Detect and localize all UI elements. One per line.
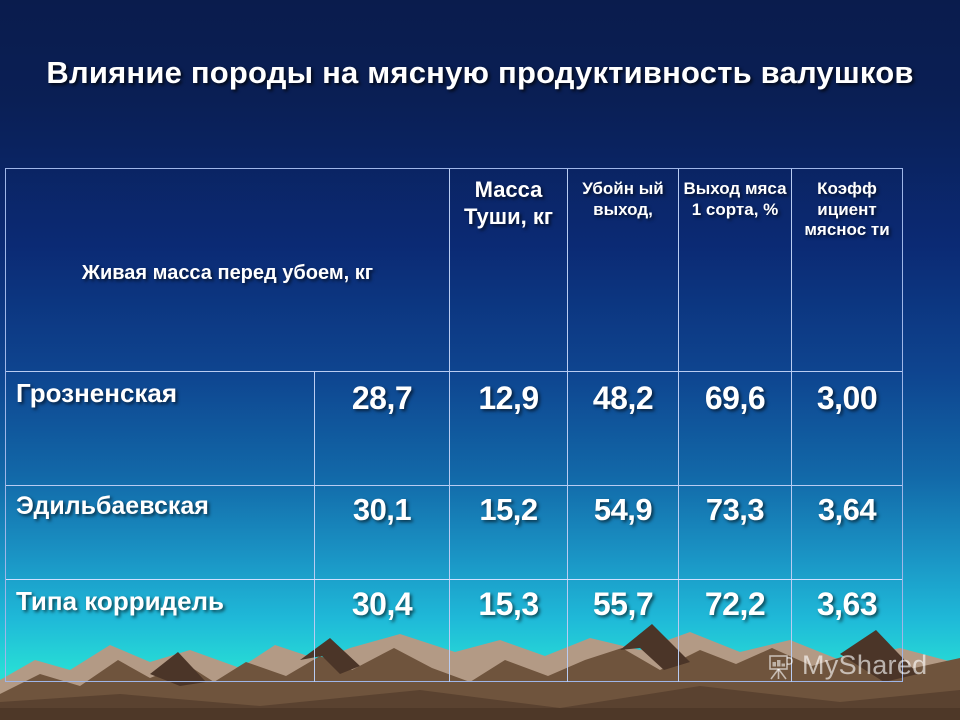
cell-meat-grade1: 69,6 (678, 372, 791, 485)
slide-canvas: Влияние породы на мясную продуктивность … (0, 0, 960, 720)
value-live-weight: 30,4 (315, 580, 449, 623)
table-row: Типа корридель 30,4 15,3 55,7 72,2 3,63 (6, 579, 902, 682)
header-cell-carcass-weight: Масса Туши, кг (449, 169, 567, 371)
value-carcass-weight: 15,3 (450, 580, 567, 623)
slide-title: Влияние породы на мясную продуктивность … (40, 52, 920, 93)
value-breed: Эдильбаевская (6, 486, 314, 521)
cell-live-weight: 30,4 (314, 580, 449, 682)
value-meatiness-coef: 3,64 (792, 486, 902, 528)
cell-slaughter-yield: 54,9 (567, 486, 678, 579)
cell-meatiness-coef: 3,63 (791, 580, 902, 682)
header-cell-meatiness-coef: Коэфф ициент мяснос ти (791, 169, 902, 371)
cell-carcass-weight: 15,3 (449, 580, 567, 682)
value-breed: Грозненская (6, 372, 314, 408)
data-table: Живая масса перед убоем, кг Масса Туши, … (5, 168, 903, 682)
value-meat-grade1: 69,6 (679, 372, 791, 417)
value-slaughter-yield: 54,9 (568, 486, 678, 528)
value-live-weight: 30,1 (315, 486, 449, 528)
cell-meatiness-coef: 3,00 (791, 372, 902, 485)
cell-slaughter-yield: 48,2 (567, 372, 678, 485)
header-label-breed: Живая масса перед убоем, кг (6, 256, 449, 285)
cell-breed: Типа корридель (6, 580, 314, 682)
cell-live-weight: 30,1 (314, 486, 449, 579)
value-carcass-weight: 15,2 (450, 486, 567, 528)
value-slaughter-yield: 55,7 (568, 580, 678, 623)
cell-carcass-weight: 12,9 (449, 372, 567, 485)
cell-carcass-weight: 15,2 (449, 486, 567, 579)
cell-slaughter-yield: 55,7 (567, 580, 678, 682)
value-meatiness-coef: 3,63 (792, 580, 902, 623)
cell-live-weight: 28,7 (314, 372, 449, 485)
header-cell-slaughter-yield: Убойн ый выход, (567, 169, 678, 371)
cell-meat-grade1: 73,3 (678, 486, 791, 579)
header-label-meat-grade1: Выход мяса 1 сорта, % (679, 169, 791, 220)
table-row: Эдильбаевская 30,1 15,2 54,9 73,3 3,64 (6, 485, 902, 579)
value-meat-grade1: 72,2 (679, 580, 791, 623)
table-header-row: Живая масса перед убоем, кг Масса Туши, … (6, 169, 902, 371)
cell-breed: Эдильбаевская (6, 486, 314, 579)
value-meat-grade1: 73,3 (679, 486, 791, 528)
header-label-slaughter-yield: Убойн ый выход, (568, 169, 678, 220)
value-meatiness-coef: 3,00 (792, 372, 902, 417)
header-cell-meat-grade1: Выход мяса 1 сорта, % (678, 169, 791, 371)
cell-breed: Грозненская (6, 372, 314, 485)
header-cell-breed: Живая масса перед убоем, кг (6, 169, 449, 371)
header-label-carcass-weight: Масса Туши, кг (450, 169, 567, 231)
table-row: Грозненская 28,7 12,9 48,2 69,6 3,00 (6, 371, 902, 485)
value-breed: Типа корридель (6, 580, 314, 616)
cell-meatiness-coef: 3,64 (791, 486, 902, 579)
value-slaughter-yield: 48,2 (568, 372, 678, 417)
cell-meat-grade1: 72,2 (678, 580, 791, 682)
value-carcass-weight: 12,9 (450, 372, 567, 417)
value-live-weight: 28,7 (315, 372, 449, 417)
header-label-meatiness-coef: Коэфф ициент мяснос ти (792, 169, 902, 241)
